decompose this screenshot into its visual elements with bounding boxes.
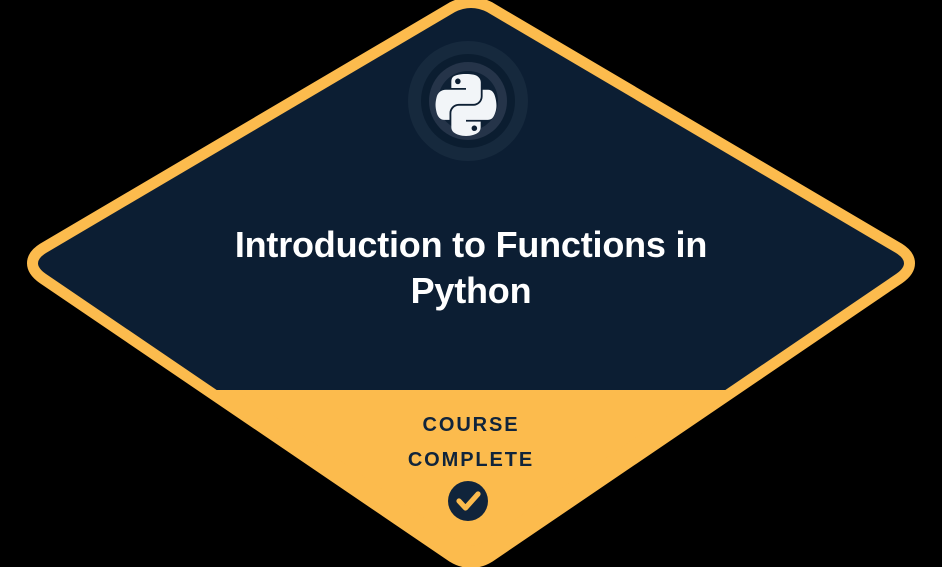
course-completion-badge: Introduction to Functions in Python COUR…	[0, 0, 942, 567]
badge-graphic	[0, 0, 942, 567]
check-circle-icon	[448, 481, 488, 521]
